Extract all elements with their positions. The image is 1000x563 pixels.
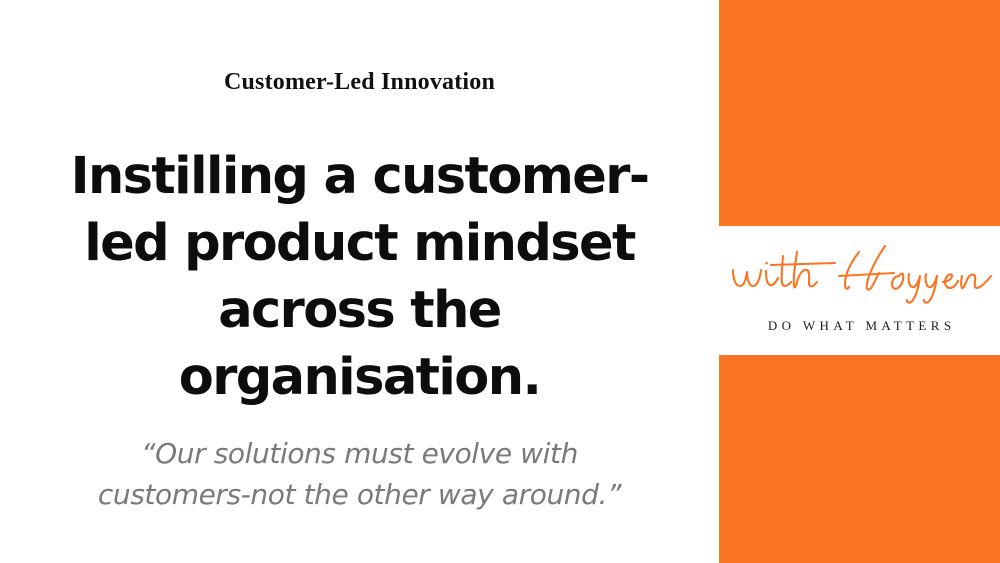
eyebrow-label: Customer-Led Innovation (0, 69, 719, 95)
accent-block-bottom (719, 355, 1000, 563)
accent-block-top (719, 0, 1000, 226)
slide-canvas: Customer-Led Innovation Instilling a cus… (0, 0, 1000, 563)
pull-quote: “Our solutions must evolve with customer… (0, 433, 719, 515)
logo-band: DO WHAT MATTERS (719, 226, 1000, 355)
logo-tagline: DO WHAT MATTERS (719, 318, 1000, 334)
script-logo-icon (719, 232, 1000, 306)
page-title: Instilling a customer- led product minds… (0, 143, 719, 411)
content-column: Customer-Led Innovation Instilling a cus… (0, 0, 719, 563)
quote-line-1: “Our solutions must evolve with (0, 433, 719, 474)
headline-line-4: organisation. (0, 344, 719, 411)
quote-line-2: customers-not the other way around.” (0, 474, 719, 515)
brand-panel: DO WHAT MATTERS (719, 0, 1000, 563)
headline-line-3: across the (0, 277, 719, 344)
headline-line-1: Instilling a customer- (0, 143, 719, 210)
headline-line-2: led product mindset (0, 210, 719, 277)
hoyyen-script-logo (719, 232, 1000, 306)
